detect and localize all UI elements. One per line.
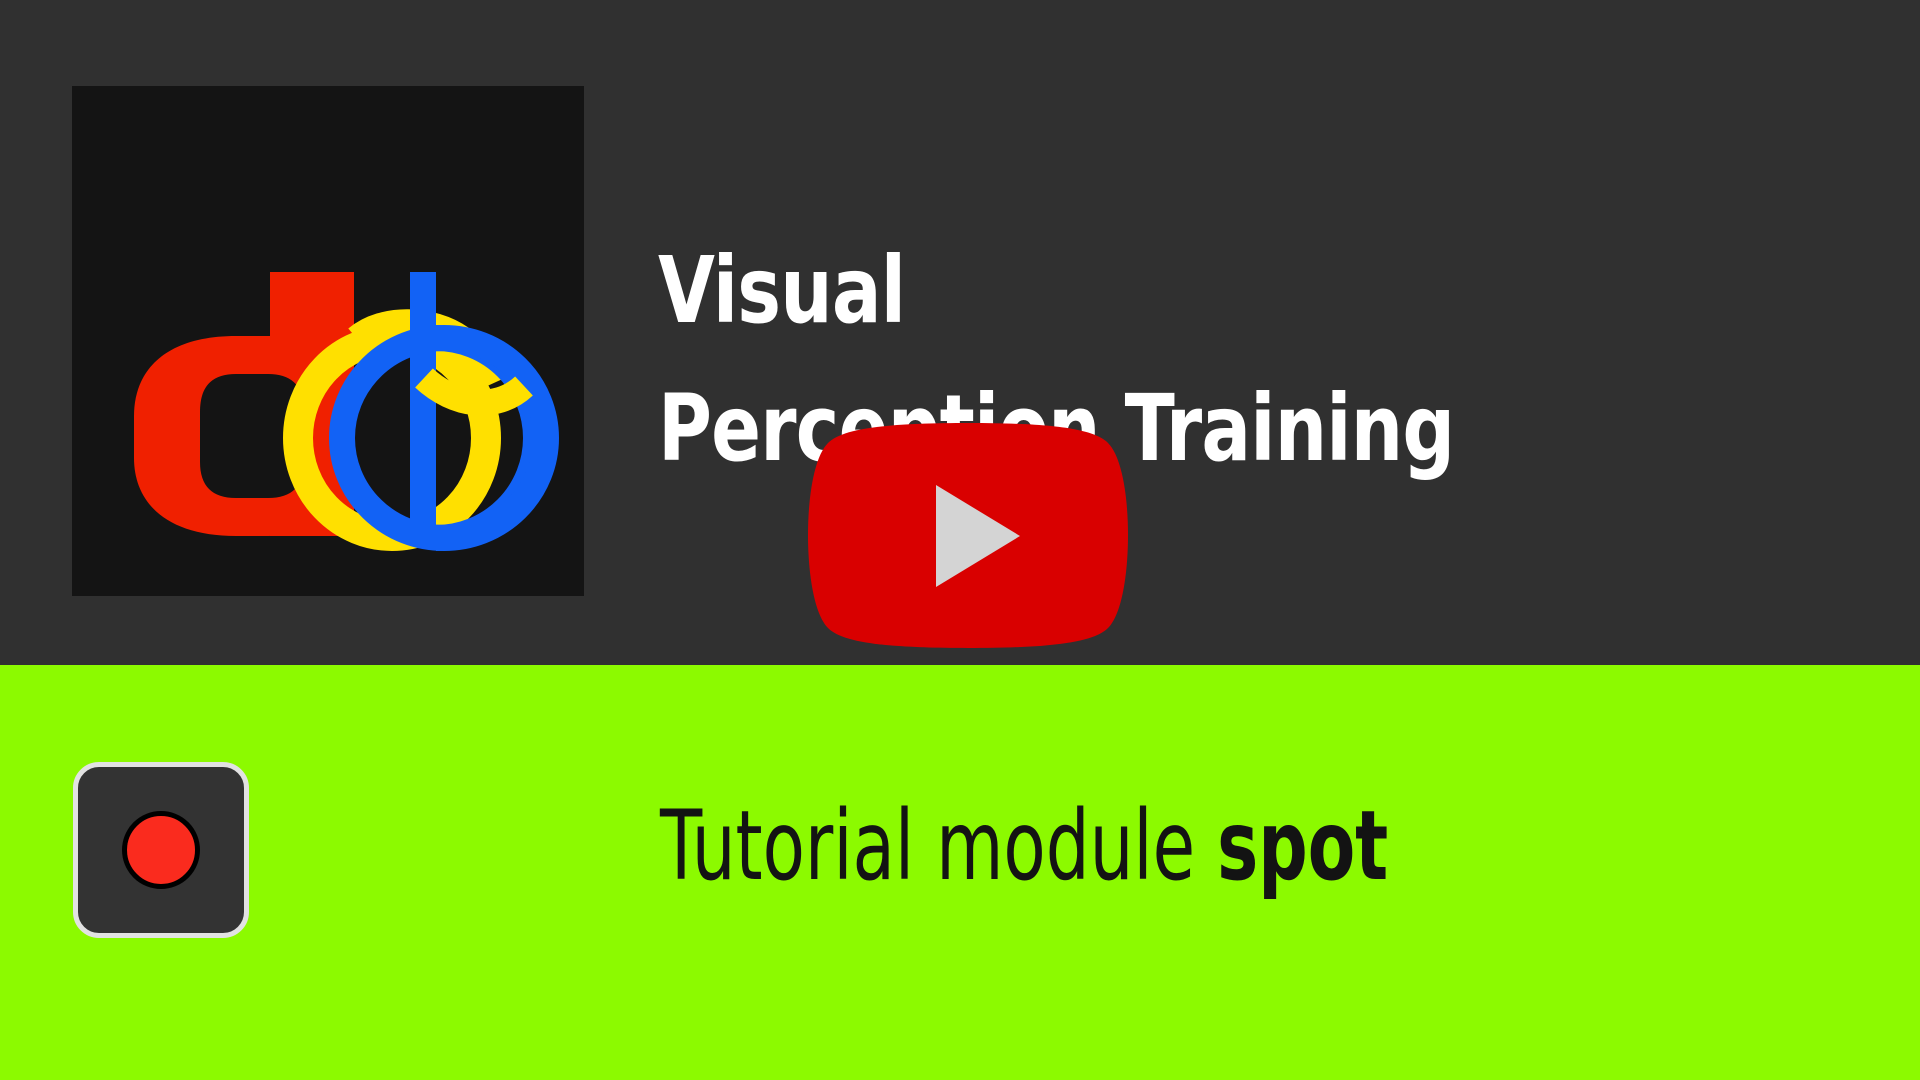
caption-emphasis: spot [1217,790,1388,902]
play-video-button[interactable] [808,423,1128,648]
header-panel: Visual Perception Training [0,0,1920,665]
dob-logo-icon [72,86,584,596]
caption-prefix: Tutorial module [660,790,1217,902]
app-logo-tile [72,86,584,596]
module-caption: Tutorial module spot [660,790,1388,902]
screenshot-root: Visual Perception Training Tutorial modu… [0,0,1920,1080]
record-button[interactable] [73,762,249,938]
record-dot-icon [122,811,200,889]
youtube-play-icon [808,423,1128,648]
title-line-1: Visual [658,222,1586,360]
